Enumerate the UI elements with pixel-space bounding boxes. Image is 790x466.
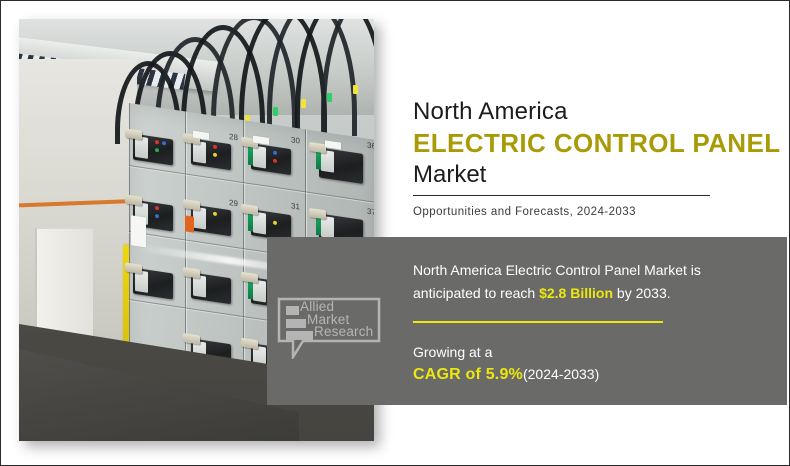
title-line-region: North America	[413, 97, 783, 127]
panel-number: 36	[367, 141, 374, 151]
panel-number: 28	[229, 132, 238, 142]
cagr-label: Growing at a	[413, 341, 753, 363]
subtitle: Opportunities and Forecasts, 2024-2033	[413, 206, 636, 218]
cagr-block: Growing at a CAGR of 5.9%(2024-2033)	[413, 341, 753, 386]
stat-panel: North America Electric Control Panel Mar…	[267, 237, 787, 405]
panel-number: 37	[367, 207, 374, 217]
statement-suffix: by 2033.	[613, 285, 671, 301]
cagr-period: (2024-2033)	[523, 366, 599, 382]
stat-divider	[413, 321, 663, 323]
poster-root: 28 30 36 29 31 37 32 38 39 North America…	[0, 0, 790, 466]
page-title: North America ELECTRIC CONTROL PANEL Mar…	[413, 97, 783, 190]
cagr-value: CAGR of 5.9%	[413, 366, 523, 383]
statement-value: $2.8 Billion	[539, 285, 613, 301]
panel-number: 30	[291, 135, 300, 145]
title-line-market: Market	[413, 159, 783, 190]
market-value-statement: North America Electric Control Panel Mar…	[413, 259, 768, 305]
title-divider	[413, 195, 710, 196]
title-line-product: ELECTRIC CONTROL PANEL	[413, 127, 783, 159]
panel-number: 29	[229, 198, 238, 208]
panel-number: 31	[291, 201, 300, 211]
cagr-value-row: CAGR of 5.9%(2024-2033)	[413, 363, 753, 386]
